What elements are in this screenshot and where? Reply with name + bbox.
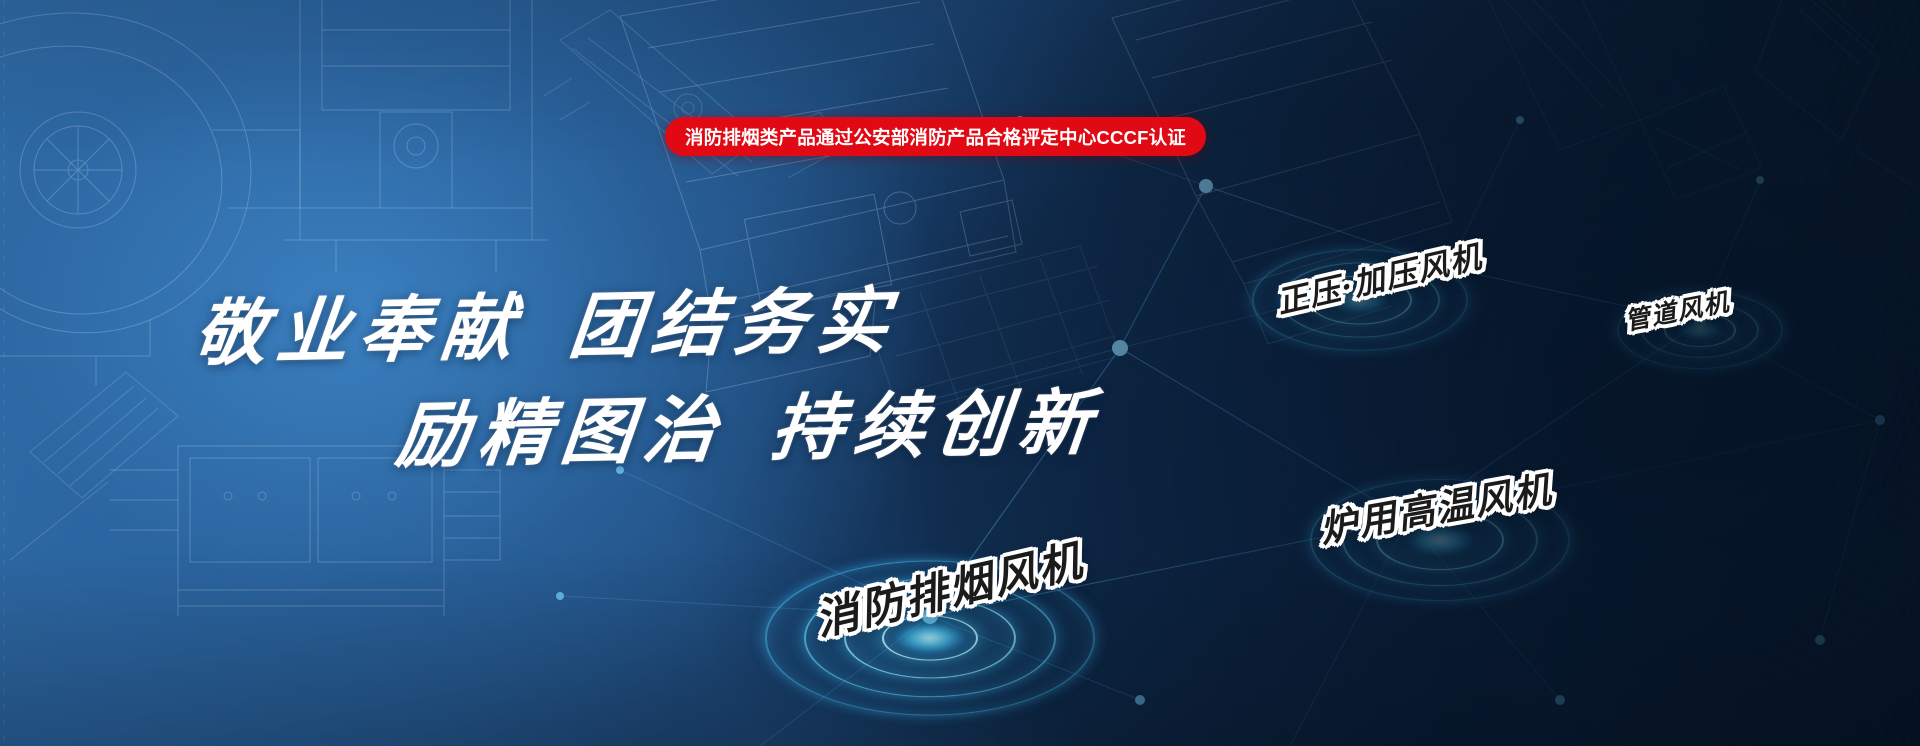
glow-hub-icon — [1290, 460, 1590, 620]
glow-hub-icon — [1600, 275, 1800, 385]
glow-hub-icon — [1230, 230, 1490, 370]
slogan-line1-part2: 团结务实 — [565, 277, 903, 368]
slogan-line-1: 敬业奉献团结务实 — [190, 261, 905, 379]
slogan-gap — [723, 454, 769, 455]
slogan-gap — [521, 352, 567, 353]
slogan-line2-part1: 励精图治 — [392, 386, 730, 477]
certification-badge: 消防排烟类产品通过公安部消防产品合格评定中心CCCF认证 — [665, 117, 1206, 156]
slogan-line1-part1: 敬业奉献 — [190, 284, 528, 375]
slogan-line2-part2: 持续创新 — [767, 379, 1105, 470]
product-label-fire-smoke-exhaust-fan: 消防排烟风机 — [809, 526, 1089, 648]
product-label-duct-fan: 管道风机 — [1622, 282, 1733, 338]
product-label-furnace-high-temp-fan: 炉用高温风机 — [1315, 459, 1556, 553]
product-label-positive-pressure-fan: 正压·加压风机 — [1272, 231, 1487, 322]
hero-banner: 消防排烟类产品通过公安部消防产品合格评定中心CCCF认证 敬业奉献团结务实 励精… — [0, 0, 1920, 746]
slogan-line-2: 励精图治持续创新 — [392, 363, 1107, 481]
glow-hub-icon — [750, 543, 1110, 733]
scan-streaks — [1160, 0, 1920, 746]
